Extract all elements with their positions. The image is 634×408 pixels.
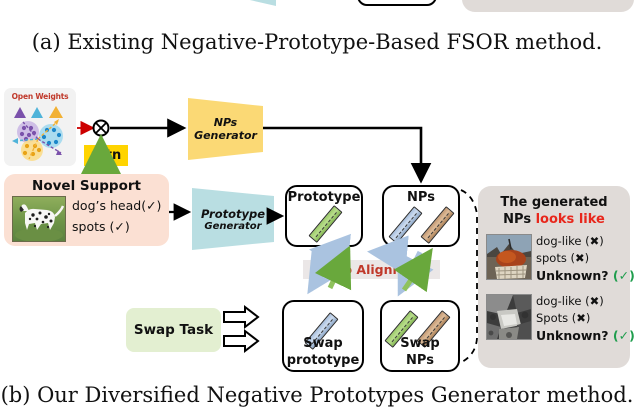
prototype-generator-line2: Generator [204,221,261,232]
prototype-generator-block: Prototype Generator [192,188,274,250]
result-panel-title-highlight: looks like [536,212,605,227]
multiply-operator-icon [94,121,109,136]
prototype-bar-green [308,205,342,243]
novel-support-line-1: spots (✓) [72,219,130,234]
nps-generator-block: NPs Generator [188,98,263,160]
result-entry-1-line-2: Unknown? (✓) [536,328,634,343]
result-entry-1-line-0: dog-like (✖) [536,294,604,308]
swap-nps-box: Swap NPs [380,300,460,372]
swap-alignment-tag: Swap Alignment [303,260,440,279]
novel-support-line-0: dog’s head(✓) [72,198,161,213]
result-panel-title-line2: NPs looks like [478,212,630,227]
result-entry-1-line-1-mark: (✖) [572,311,591,325]
swap-task-arrow-bottom [224,331,258,351]
swap-task-box: Swap Task [126,308,221,352]
attn-label: attn [84,145,128,166]
result-entry-0-image [486,234,532,280]
nps-generator-line2: Generator [194,129,257,142]
swap-alignment-label: Swap Alignment [303,260,440,279]
nps-bar-blue [388,206,422,244]
generated-nps-result-panel: The generated NPs looks like dog-like (✖… [478,186,630,368]
swap-prototype-line1: Swap [284,336,362,351]
cropped-result-panel-from-panel-a [462,0,634,12]
attn-box: attn [84,145,128,166]
result-entry-0-line-1: spots (✖) [536,251,589,265]
prototype-box-title: Prototype [287,190,361,205]
caption-a: (a) Existing Negative-Prototype-Based FS… [0,30,634,54]
swap-task-label: Swap Task [126,308,221,352]
prototype-generator-line1: Prototype [201,207,265,221]
nps-box: NPs [382,185,460,247]
novel-support-line-1-text: spots [72,219,109,234]
novel-support-line-1-mark: (✓) [109,219,129,234]
novel-support-line-0-text: dog’s head [72,198,141,213]
result-entry-0-line-2: Unknown? (✓) [536,268,634,283]
novel-support-panel: Novel Support dog’s head(✓) spots (✓) [4,174,169,246]
result-entry-1-line-2-mark: (✓) [613,328,634,343]
cropped-teal-shape-from-panel-a [228,0,276,6]
swap-prototype-box: Swap prototype [282,300,364,372]
result-entry-1-line-1: Spots (✖) [536,311,590,325]
prototype-box: Prototype [285,185,363,247]
result-entry-0-line-1-text: spots [536,251,570,265]
open-weights-cluster-graphic [4,101,76,165]
result-entry-0-line-2-text: Unknown? [536,268,613,283]
result-entry-0-line-2-mark: (✓) [613,268,634,283]
nps-generator-line1: NPs [214,116,237,129]
result-entry-1-line-0-text: dog-like [536,294,585,308]
novel-support-image [12,196,66,242]
swap-task-arrow-top [224,307,258,327]
result-entry-1-image [486,294,532,340]
novel-support-title: Novel Support [4,178,169,194]
result-panel-title-line1: The generated [478,195,630,210]
caption-b: (b) Our Diversified Negative Prototypes … [0,383,634,407]
swap-nps-line1: Swap [382,336,458,351]
result-entry-0-line-0-mark: (✖) [585,234,604,248]
result-entry-0-line-1-mark: (✖) [570,251,589,265]
novel-support-line-0-mark: (✓) [141,198,161,213]
result-entry-1-line-1-text: Spots [536,311,572,325]
cropped-box-from-panel-a [357,0,437,6]
nps-bar-brown [420,206,454,244]
result-entry-1-line-2-text: Unknown? [536,328,613,343]
open-weights-panel: Open Weights [4,88,76,166]
swap-nps-line2: NPs [382,353,458,368]
open-weights-title: Open Weights [4,92,76,101]
nps-box-title: NPs [384,190,458,205]
result-entry-0-line-0-text: dog-like [536,234,585,248]
result-entry-1-line-0-mark: (✖) [585,294,604,308]
result-entry-0-line-0: dog-like (✖) [536,234,604,248]
swap-prototype-line2: prototype [284,353,362,368]
result-panel-title-plain: NPs [503,212,535,227]
